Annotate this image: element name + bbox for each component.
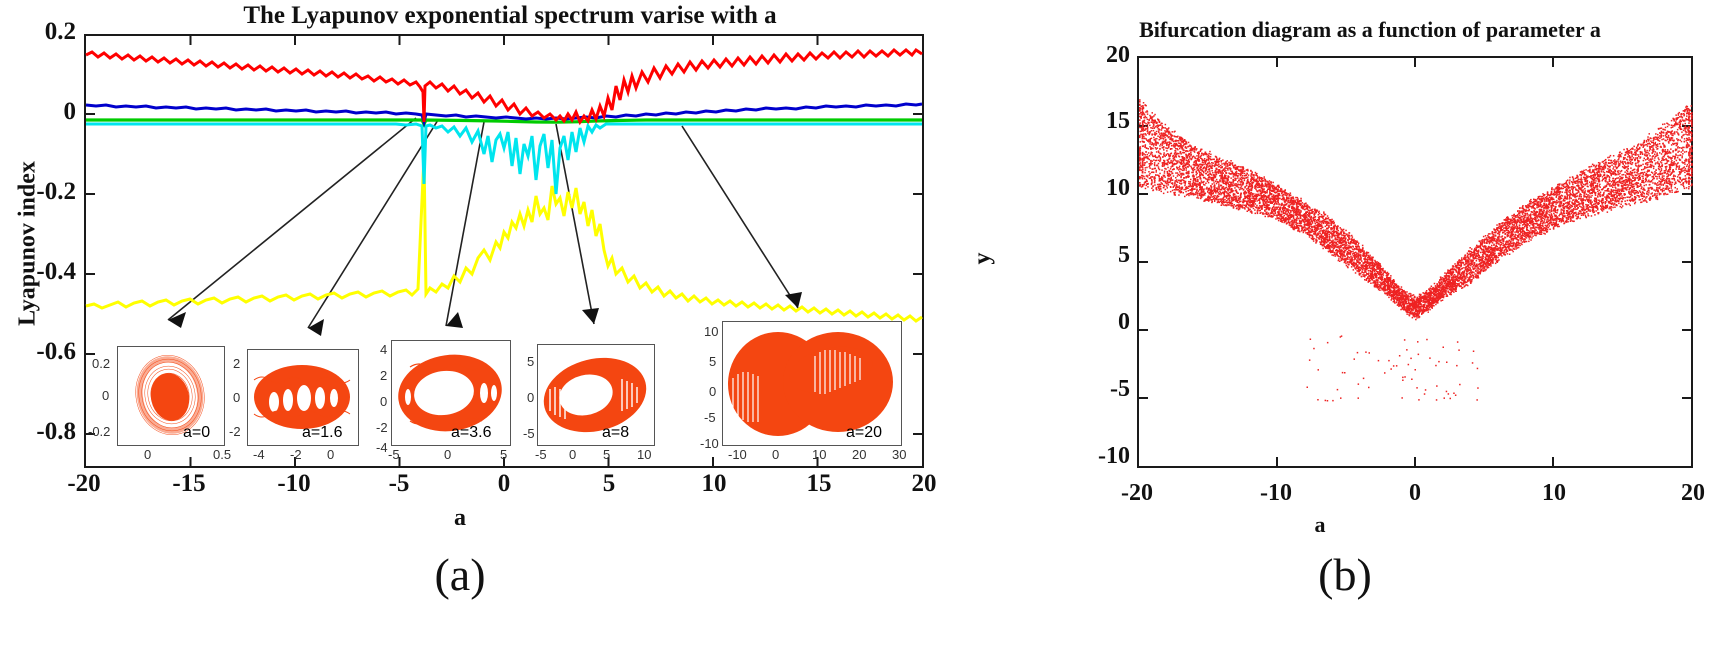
panel-b-bifurcation-diagram: Bifurcation diagram as a function of par… [940,0,1715,661]
panel-b-plot-frame [1137,56,1693,468]
panel-a-title: The Lyapunov exponential spectrum varise… [130,2,890,30]
inset-a20-ytick-1: 5 [709,354,716,369]
panel-a-xtick-4: 0 [464,470,544,498]
inset-a3-6-label: a=3.6 [451,424,491,442]
panel-b-ytick-0: 20 [1050,42,1130,69]
inset-a20-ytick-4: -10 [700,436,719,451]
inset-a8-svg [538,345,653,444]
inset-a8-ytick-2: -5 [523,426,535,441]
inset-a0-xtick-0: 0 [144,447,151,462]
inset-a1-6-ytick-0: 2 [233,356,240,371]
panel-b-ytick-2: 10 [1050,175,1130,202]
inset-a1-6-xtick-2: 0 [327,447,334,462]
bifurcation-points [1139,99,1693,401]
inset-a8-ytick-0: 5 [527,354,534,369]
panel-b-scatter-svg [1139,58,1691,466]
panel-a-xlabel: a [440,505,480,532]
inset-a3-6-xtick-2: 5 [500,447,507,462]
inset-a20-xtick-2: 10 [812,447,826,462]
panel-a-lyapunov-spectrum: The Lyapunov exponential spectrum varise… [0,0,940,661]
panel-a-ytick-1: 0 [0,98,76,126]
panel-b-xtick-2: 0 [1375,480,1455,507]
panel-b-xtick-1: -10 [1236,480,1316,507]
panel-a-xtick-5: 5 [569,470,649,498]
inset-a0-ytick-0: 0.2 [92,356,110,371]
panel-a-xtick-3: -5 [359,470,439,498]
inset-a1-6-xtick-0: -4 [253,447,265,462]
inset-a20-xtick-4: 30 [892,447,906,462]
panel-b-ytick-5: -5 [1050,376,1130,403]
panel-a-xtick-2: -10 [254,470,334,498]
inset-a20-ytick-2: 0 [709,384,716,399]
inset-a3-6-xtick-1: 0 [444,447,451,462]
inset-a1-6-xtick-1: -2 [290,447,302,462]
attractor-core-a0 [146,370,193,425]
panel-b-ytick-6: -10 [1050,443,1130,470]
inset-a0-xtick-1: 0.5 [213,447,231,462]
inset-a3-6-ytick-4: -4 [376,440,388,455]
panel-b-ytick-4: 0 [1050,309,1130,336]
inset-a0-ytick-2: -0.2 [88,424,110,439]
inset-a8-xtick-0: -5 [535,447,547,462]
inset-a1-6-ytick-2: -2 [229,424,241,439]
inset-a20-ytick-0: 10 [704,324,718,339]
panel-b-ytick-3: 5 [1050,242,1130,269]
panel-b-title: Bifurcation diagram as a function of par… [1020,17,1715,43]
panel-a-xtick-0: -20 [44,470,124,498]
inset-a8-xtick-1: 0 [569,447,576,462]
panel-a-xtick-6: 10 [674,470,754,498]
inset-a0-label: a=0 [183,424,210,442]
inset-a8-label: a=8 [602,424,629,442]
inset-a8-xtick-3: 10 [637,447,651,462]
inset-a3-6-ytick-0: 4 [380,342,387,357]
caption-a: (a) [400,548,520,601]
panel-b-tickmarks [1139,58,1691,466]
panel-b-xlabel: a [1300,512,1340,538]
panel-a-ytick-3: -0.4 [0,258,76,286]
inset-a20-xtick-1: 0 [772,447,779,462]
inset-a20-ytick-3: -5 [704,410,716,425]
panel-a-ytick-4: -0.6 [0,338,76,366]
panel-b-xtick-0: -20 [1097,480,1177,507]
inset-attractor-a8 [537,344,655,446]
panel-a-ytick-2: -0.2 [0,178,76,206]
inset-a3-6-ytick-2: 0 [380,394,387,409]
panel-b-xtick-4: 20 [1653,480,1715,507]
panel-b-xtick-3: 10 [1514,480,1594,507]
inset-a1-6-ytick-1: 0 [233,390,240,405]
inset-a3-6-ytick-1: 2 [380,368,387,383]
inset-a0-ytick-1: 0 [102,388,109,403]
panel-a-ytick-0: 0.2 [0,18,76,46]
inset-a3-6-xtick-0: -5 [388,447,400,462]
curve-lyap4-cyan [86,124,922,194]
panel-a-xtick-1: -15 [149,470,229,498]
panel-b-ytick-1: 15 [1050,108,1130,135]
inset-a8-ytick-1: 0 [527,390,534,405]
inset-a20-label: a=20 [846,424,882,442]
panel-b-ylabel: y [970,229,997,289]
inset-a1-6-label: a=1.6 [302,424,342,442]
inset-a20-xtick-3: 20 [852,447,866,462]
inset-a8-xtick-2: 5 [603,447,610,462]
panel-a-xtick-7: 15 [779,470,859,498]
caption-b: (b) [1285,548,1405,601]
curve-lyap1-red [86,50,922,122]
inset-a20-xtick-0: -10 [728,447,747,462]
inset-a3-6-ytick-3: -2 [376,420,388,435]
panel-a-ytick-5: -0.8 [0,418,76,446]
